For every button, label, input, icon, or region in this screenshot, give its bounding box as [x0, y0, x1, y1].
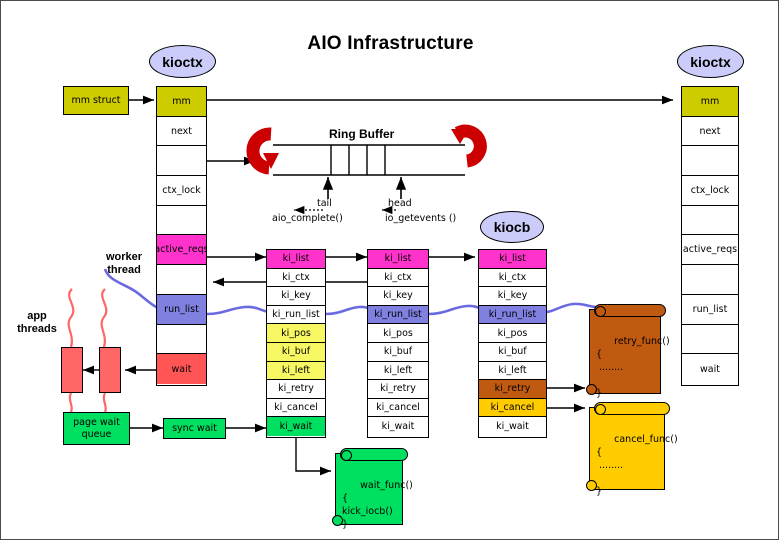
mm-struct-label: mm struct — [71, 95, 120, 107]
page-wait-queue-line1: page wait — [73, 417, 120, 429]
arrow-kiwait-to-waitfunc — [296, 438, 331, 471]
kioctx-left-row-wait: wait — [157, 354, 206, 384]
ring-buffer-title: Ring Buffer — [329, 127, 394, 141]
kiocb-3-row-ki_run_list: ki_run_list — [479, 306, 546, 325]
kiocb-3-row-label: ki_list — [499, 253, 526, 264]
kioctx-right-struct: mmnextctx_lockactive_reqsrun_listwait — [681, 86, 739, 386]
app-thread-squiggle-left-top — [69, 289, 74, 347]
kiocb-2-row-label: ki_retry — [380, 383, 416, 394]
app-thread-squiggle-left-bottom — [70, 393, 72, 414]
kioctx-left-row-active_reqs: active_reqs — [157, 235, 206, 265]
ring-rotate-left-icon — [253, 134, 271, 168]
kiocb-1-row-ki_cancel: ki_cancel — [267, 399, 325, 418]
kiocb-3-row-label: ki_left — [498, 365, 526, 376]
kiocb-3-row-label: ki_key — [498, 290, 528, 301]
kiocb-2-struct: ki_listki_ctxki_keyki_run_listki_poski_b… — [367, 249, 429, 438]
kioctx-right-row-mm: mm — [682, 87, 738, 117]
kiocb-2-row-ki_list: ki_list — [368, 250, 428, 269]
kioctx-left-row-run_list: run_list — [157, 295, 206, 325]
kiocb-2-row-label: ki_buf — [384, 346, 412, 357]
kiocb-3-row-label: ki_wait — [496, 421, 529, 432]
kiocb-1-row-ki_pos: ki_pos — [267, 324, 325, 343]
kioctx-right-row-wait: wait — [682, 354, 738, 384]
kiocb-title: kiocb — [494, 219, 531, 235]
kioctx-right-row-label: wait — [700, 364, 720, 375]
retry-func-top-knob — [595, 306, 606, 317]
kioctx-left-row-label: active_reqs — [157, 244, 206, 255]
kiocb-2-row-label: ki_pos — [383, 328, 413, 339]
kiocb-3-row-ki_key: ki_key — [479, 287, 546, 306]
kiocb-1-row-label: ki_retry — [278, 383, 314, 394]
kiocb-2-row-ki_pos: ki_pos — [368, 324, 428, 343]
kioctx-left-row-label: run_list — [164, 304, 199, 315]
kiocb-2-row-ki_cancel: ki_cancel — [368, 399, 428, 418]
kiocb-2-row-ki_wait: ki_wait — [368, 417, 428, 436]
kioctx-right-row-label: active_reqs — [683, 244, 737, 255]
kioctx-left-row-blank-6 — [157, 265, 206, 295]
kioctx-right-ellipse-label: kioctx — [677, 45, 744, 78]
kiocb-1-row-ki_ctx: ki_ctx — [267, 269, 325, 288]
kioctx-right-row-label: mm — [701, 96, 720, 107]
kiocb-3-row-ki_retry: ki_retry — [479, 380, 546, 399]
kioctx-left-title: kioctx — [162, 54, 202, 70]
kiocb-2-row-ki_retry: ki_retry — [368, 380, 428, 399]
kiocb-1-row-label: ki_pos — [281, 328, 311, 339]
ring-rotate-left-head — [263, 153, 279, 169]
kioctx-left-row-next: next — [157, 117, 206, 147]
kiocb-2-row-label: ki_cancel — [376, 402, 420, 413]
kioctx-right-row-blank-4 — [682, 206, 738, 236]
kioctx-left-row-blank-4 — [157, 206, 206, 236]
kioctx-right-row-label: next — [699, 126, 720, 137]
kiocb-3-row-label: ki_retry — [495, 383, 531, 394]
kioctx-left-row-label: ctx_lock — [162, 185, 201, 196]
worker-thread-label: worker thread — [94, 251, 154, 277]
kioctx-right-row-blank-6 — [682, 265, 738, 295]
kiocb-3-row-label: ki_pos — [498, 328, 528, 339]
wait-func-top-knob — [341, 450, 352, 461]
head-label: head — [388, 198, 412, 209]
kioctx-right-row-label: ctx_lock — [691, 185, 730, 196]
kioctx-right-row-blank-2 — [682, 146, 738, 176]
kiocb-3-row-label: ki_buf — [498, 346, 526, 357]
cancel-func-bottom-knob — [586, 480, 597, 491]
retry-func-bottom-knob — [586, 384, 597, 395]
wait-func-body: wait_func() { kick_iocb() } — [335, 453, 403, 525]
kiocb-1-row-ki_retry: ki_retry — [267, 380, 325, 399]
cancel-func-top-knob — [595, 404, 606, 415]
kiocb-1-row-label: ki_cancel — [274, 402, 318, 413]
kiocb-2-row-label: ki_left — [384, 365, 412, 376]
kiocb-1-row-ki_list: ki_list — [267, 250, 325, 269]
app-threads-label-line2: threads — [6, 323, 68, 336]
kiocb-3-row-ki_buf: ki_buf — [479, 343, 546, 362]
worker-thread-label-line1: worker — [94, 251, 154, 264]
kiocb-2-row-ki_key: ki_key — [368, 287, 428, 306]
kiocb-2-row-label: ki_list — [385, 253, 412, 264]
kiocb-1-row-label: ki_ctx — [282, 272, 309, 283]
kiocb-2-row-ki_left: ki_left — [368, 362, 428, 381]
kioctx-right-row-active_reqs: active_reqs — [682, 235, 738, 265]
wait-func-text: wait_func() { kick_iocb() } — [342, 480, 413, 530]
app-threads-label-line1: app — [6, 310, 68, 323]
kiocb-3-row-label: ki_cancel — [491, 402, 535, 413]
kiocb-2-row-label: ki_run_list — [374, 309, 422, 320]
kiocb-3-struct: ki_listki_ctxki_keyki_run_listki_poski_b… — [478, 249, 547, 438]
kiocb-1-row-label: ki_left — [282, 365, 310, 376]
kioctx-right-row-next: next — [682, 117, 738, 147]
kiocb-3-row-ki_ctx: ki_ctx — [479, 269, 546, 288]
wait-func-scroll: wait_func() { kick_iocb() } — [335, 453, 403, 525]
worker-thread-label-line2: thread — [94, 264, 154, 277]
kiocb-1-row-ki_left: ki_left — [267, 362, 325, 381]
kioctx-right-row-label: run_list — [693, 304, 728, 315]
app-thread-squiggle-right-top — [102, 289, 107, 347]
kiocb-1-row-label: ki_key — [281, 290, 311, 301]
ring-rotate-right-icon — [458, 131, 480, 161]
kioctx-right-row-run_list: run_list — [682, 295, 738, 325]
diagram-canvas: AIO Infrastructure — [0, 0, 779, 540]
kiocb-1-row-label: ki_list — [283, 253, 310, 264]
kiocb-1-row-ki_key: ki_key — [267, 287, 325, 306]
kiocb-2-row-label: ki_key — [383, 290, 413, 301]
retry-func-text: retry_func() { ........ } — [596, 336, 670, 399]
kiocb-3-row-ki_list: ki_list — [479, 250, 546, 269]
kioctx-left-row-label: next — [171, 126, 192, 137]
kioctx-right-title: kioctx — [690, 54, 730, 70]
kioctx-left-row-label: wait — [172, 364, 192, 375]
sync-wait-label: sync wait — [172, 423, 217, 435]
kiocb-3-row-ki_cancel: ki_cancel — [479, 399, 546, 418]
tail-label: tail — [317, 198, 332, 209]
kiocb-2-row-label: ki_ctx — [384, 272, 411, 283]
kiocb-1-struct: ki_listki_ctxki_keyki_run_listki_poski_b… — [266, 249, 326, 438]
kioctx-left-ellipse-label: kioctx — [149, 45, 216, 78]
kioctx-right-row-blank-8 — [682, 325, 738, 355]
kioctx-left-row-ctx_lock: ctx_lock — [157, 176, 206, 206]
kiocb-3-row-label: ki_run_list — [489, 309, 537, 320]
cancel-func-body: cancel_func() { ........ } — [589, 407, 665, 490]
io-getevents-label: io_getevents () — [385, 213, 456, 224]
kiocb-2-row-ki_ctx: ki_ctx — [368, 269, 428, 288]
cancel-func-scroll: cancel_func() { ........ } — [589, 407, 665, 490]
page-wait-queue-line2: queue — [82, 429, 112, 441]
mm-struct-box: mm struct — [63, 86, 129, 115]
kiocb-1-row-label: ki_run_list — [272, 309, 320, 320]
kiocb-1-row-ki_wait: ki_wait — [267, 417, 325, 436]
app-thread-box-1 — [61, 347, 83, 393]
app-thread-box-2 — [99, 347, 121, 393]
kiocb-3-row-ki_left: ki_left — [479, 362, 546, 381]
kioctx-left-row-blank-2 — [157, 146, 206, 176]
retry-func-scroll: retry_func() { ........ } — [589, 309, 661, 394]
retry-func-body: retry_func() { ........ } — [589, 309, 661, 394]
kiocb-1-row-ki_buf: ki_buf — [267, 343, 325, 362]
wait-func-bottom-knob — [332, 515, 343, 526]
kiocb-1-row-label: ki_buf — [282, 346, 310, 357]
page-title: AIO Infrastructure — [1, 33, 779, 55]
page-wait-queue-box: page wait queue — [63, 412, 130, 445]
kiocb-3-row-ki_pos: ki_pos — [479, 324, 546, 343]
kioctx-left-struct: mmnextctx_lockactive_reqsrun_listwait — [156, 86, 207, 386]
cancel-func-text: cancel_func() { ........ } — [596, 434, 678, 497]
app-threads-label: app threads — [6, 310, 68, 336]
ring-rotate-right-head — [451, 129, 469, 144]
kioctx-right-row-ctx_lock: ctx_lock — [682, 176, 738, 206]
kioctx-left-row-label: mm — [172, 96, 191, 107]
kiocb-2-row-ki_buf: ki_buf — [368, 343, 428, 362]
kiocb-3-row-ki_wait: ki_wait — [479, 417, 546, 436]
aio-complete-label: aio_complete() — [272, 213, 343, 224]
kiocb-3-row-label: ki_ctx — [499, 272, 526, 283]
kiocb-1-row-ki_run_list: ki_run_list — [267, 306, 325, 325]
kiocb-ellipse-label: kiocb — [480, 211, 544, 243]
kiocb-1-row-label: ki_wait — [280, 421, 313, 432]
sync-wait-box: sync wait — [163, 418, 226, 439]
kiocb-2-row-ki_run_list: ki_run_list — [368, 306, 428, 325]
kioctx-left-row-mm: mm — [157, 87, 206, 117]
kiocb-2-row-label: ki_wait — [382, 421, 415, 432]
kioctx-left-row-blank-8 — [157, 325, 206, 355]
